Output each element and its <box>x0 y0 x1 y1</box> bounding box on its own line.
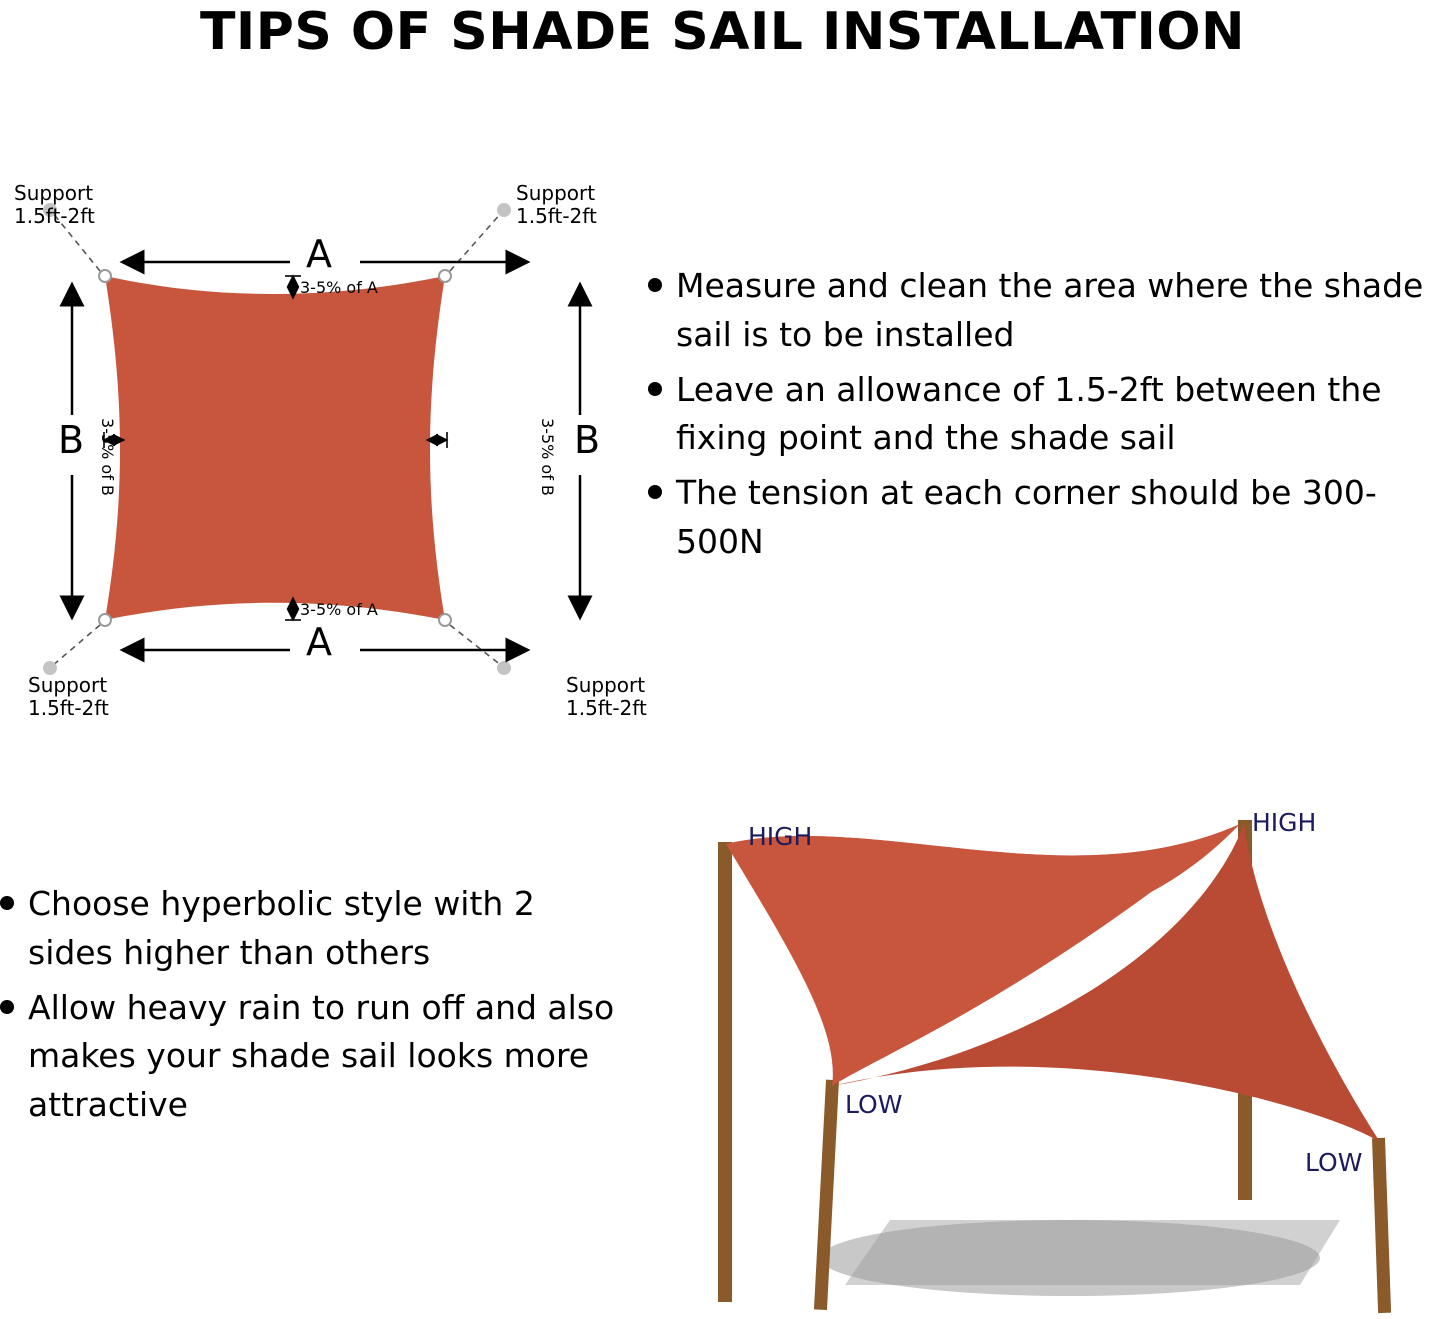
tip-text: Choose hyperbolic style with 2 sides hig… <box>28 880 620 978</box>
sail-label-high-right: HIGH <box>1252 808 1316 837</box>
support-label-bottom-left: Support 1.5ft-2ft <box>28 674 109 720</box>
tip-text: Leave an allowance of 1.5-2ft between th… <box>676 366 1445 464</box>
curve-depth-bottom: 3-5% of A <box>300 600 378 619</box>
dimension-a-top: A <box>306 232 332 276</box>
tip-text: Measure and clean the area where the sha… <box>676 262 1445 360</box>
support-label-top-right: Support 1.5ft-2ft <box>516 182 597 228</box>
sail-label-low-left: LOW <box>845 1090 902 1119</box>
bullet-dot-icon <box>648 485 662 499</box>
support-label-line2: 1.5ft-2ft <box>28 696 109 720</box>
hyperbolic-sail-diagram: HIGH HIGH LOW LOW <box>640 780 1445 1319</box>
support-label-line2: 1.5ft-2ft <box>566 696 647 720</box>
bullet-dot-icon <box>0 896 14 910</box>
list-item: Choose hyperbolic style with 2 sides hig… <box>0 880 620 978</box>
bullet-dot-icon <box>648 278 662 292</box>
page-title: TIPS OF SHADE SAIL INSTALLATION <box>0 2 1445 62</box>
curve-depth-top: 3-5% of A <box>300 278 378 297</box>
support-label-line1: Support <box>516 181 595 205</box>
curve-depth-left: 3-5% of B <box>98 418 117 496</box>
support-label-line1: Support <box>14 181 93 205</box>
support-label-line1: Support <box>566 673 645 697</box>
bullet-dot-icon <box>648 382 662 396</box>
support-label-bottom-right: Support 1.5ft-2ft <box>566 674 647 720</box>
tips-list-left: Choose hyperbolic style with 2 sides hig… <box>0 880 620 1136</box>
support-label-line1: Support <box>28 673 107 697</box>
dimension-b-right: B <box>574 418 600 462</box>
dimension-b-left: B <box>58 418 84 462</box>
tips-list-right: Measure and clean the area where the sha… <box>648 262 1445 573</box>
rectangular-sail-diagram: Support 1.5ft-2ft Support 1.5ft-2ft Supp… <box>0 150 680 750</box>
list-item: Allow heavy rain to run off and also mak… <box>0 984 620 1130</box>
dimension-a-bottom: A <box>306 620 332 664</box>
list-item: Leave an allowance of 1.5-2ft between th… <box>648 366 1445 464</box>
sail-label-high-left: HIGH <box>748 822 812 851</box>
tip-text: Allow heavy rain to run off and also mak… <box>28 984 620 1130</box>
support-label-top-left: Support 1.5ft-2ft <box>14 182 95 228</box>
bullet-dot-icon <box>0 1000 14 1014</box>
sail-label-low-right: LOW <box>1305 1148 1362 1177</box>
list-item: Measure and clean the area where the sha… <box>648 262 1445 360</box>
curve-depth-right: 3-5% of B <box>538 418 557 496</box>
support-label-line2: 1.5ft-2ft <box>14 204 95 228</box>
tip-text: The tension at each corner should be 300… <box>676 469 1445 567</box>
list-item: The tension at each corner should be 300… <box>648 469 1445 567</box>
support-label-line2: 1.5ft-2ft <box>516 204 597 228</box>
